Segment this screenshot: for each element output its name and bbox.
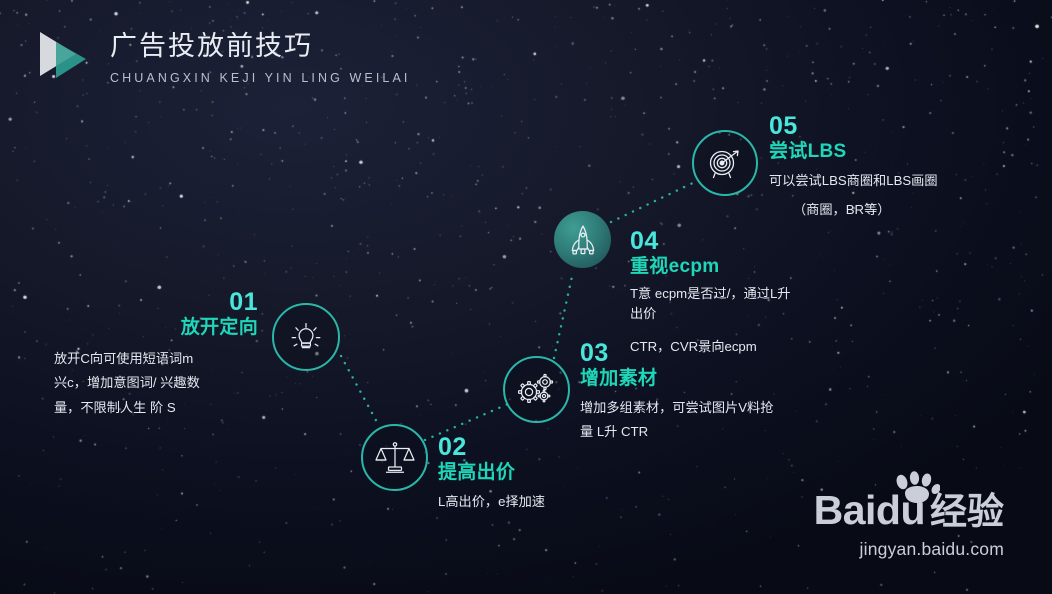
lightbulb-icon — [286, 317, 326, 357]
node-04-title: 重视ecpm — [630, 255, 840, 279]
node-02-circle[interactable] — [361, 424, 428, 491]
node-03-title: 增加素材 — [580, 367, 850, 391]
watermark-brand-cn: 经验 — [930, 493, 1004, 531]
watermark-brand-latin: Baidu — [814, 490, 925, 531]
node-02-body-0: L高出价，e择加速 — [438, 490, 668, 514]
node-04-circle[interactable] — [554, 211, 611, 268]
slide-header: 广告投放前技巧 CHUANGXIN KEJI YIN LING WEILAI — [36, 26, 410, 85]
node-05-title: 尝试LBS — [769, 140, 1019, 164]
node-05-number: 05 — [769, 113, 1019, 139]
node-02-number: 02 — [438, 434, 668, 460]
page-subtitle: CHUANGXIN KEJI YIN LING WEILAI — [110, 71, 410, 85]
node-03-circle[interactable] — [503, 356, 570, 423]
node-01-number: 01 — [54, 289, 258, 315]
baidu-jingyan-watermark: Baidu 经验 jingyan.baidu.com — [814, 490, 1004, 560]
node-04-number: 04 — [630, 228, 840, 254]
watermark-url: jingyan.baidu.com — [814, 539, 1004, 560]
node-02-title: 提高出价 — [438, 461, 668, 485]
node-05-circle[interactable] — [692, 130, 758, 196]
node-03-text: 03 增加素材 增加多组素材，可尝试图片V料抢 量 L升 CTR — [580, 340, 850, 445]
node-04-body-0: T意 ecpm是否过/，通过L升 出价 — [630, 284, 840, 324]
target-dartboard-icon — [705, 143, 745, 183]
node-05-text: 05 尝试LBS 可以尝试LBS商圈和LBS画圈 （商圈，BR等） — [769, 113, 1019, 223]
node-01-circle[interactable] — [272, 303, 340, 371]
slide-canvas: 广告投放前技巧 CHUANGXIN KEJI YIN LING WEILAI 0… — [0, 0, 1052, 594]
page-title: 广告投放前技巧 — [110, 30, 410, 64]
node-03-number: 03 — [580, 340, 850, 366]
node-05-body-0: 可以尝试LBS商圈和LBS画圈 — [769, 169, 1019, 193]
node-02-text: 02 提高出价 L高出价，e择加速 — [438, 434, 668, 514]
rocket-icon — [565, 222, 601, 258]
node-01-title: 放开定向 — [54, 316, 258, 340]
balance-scale-icon — [375, 439, 415, 477]
node-05-body-1: （商圈，BR等） — [769, 198, 1019, 222]
play-triangle-logo-icon — [36, 28, 88, 82]
node-01-text: 01 放开定向 放开C向可使用短语词m 兴c，增加意图词/ 兴趣数 量，不限制人… — [54, 289, 258, 420]
baidu-paw-icon — [892, 471, 940, 512]
gears-icon — [516, 370, 558, 410]
node-01-body-0: 放开C向可使用短语词m 兴c，增加意图词/ 兴趣数 量，不限制人生 阶 S — [54, 347, 258, 420]
